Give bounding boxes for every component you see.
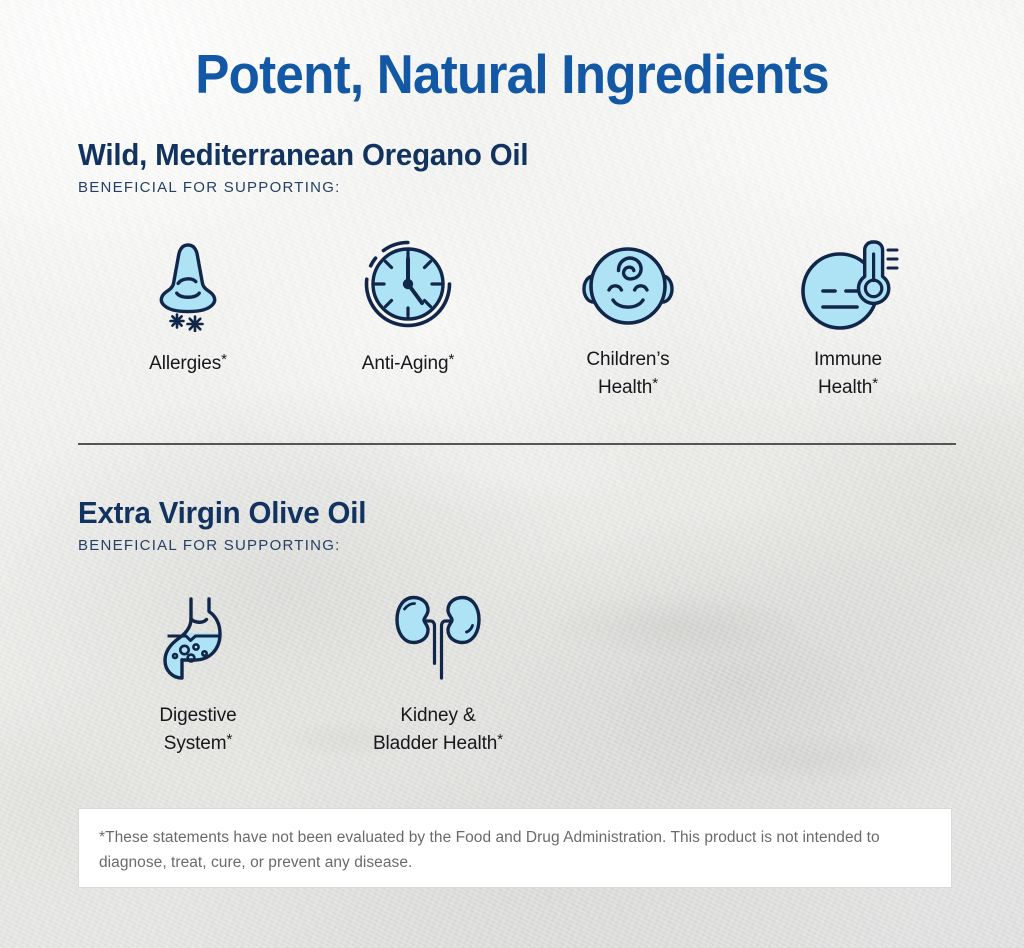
disclaimer-text: *These statements have not been evaluate… xyxy=(99,825,931,875)
benefit-label: Allergies* xyxy=(149,348,227,376)
benefit-icon-wrap xyxy=(390,592,486,688)
benefit-icon-wrap xyxy=(796,236,900,332)
benefit-label-line1: Digestive xyxy=(159,705,236,726)
benefit-item-immune-health: Immune Health* xyxy=(738,236,958,400)
benefit-item-childrens-health: Children’s Health* xyxy=(518,236,738,400)
benefit-label: Anti-Aging* xyxy=(362,348,454,376)
benefit-label: Kidney & Bladder Health* xyxy=(373,704,503,756)
disclaimer-box: *These statements have not been evaluate… xyxy=(78,808,952,888)
footnote-marker: * xyxy=(652,375,658,392)
section-divider xyxy=(78,443,956,445)
benefit-icon-wrap xyxy=(360,236,456,332)
benefit-item-digestive-system: Digestive System* xyxy=(78,592,318,756)
section-oregano-oil: Wild, Mediterranean Oregano Oil BENEFICI… xyxy=(78,138,958,197)
sick-face-thermometer-icon xyxy=(796,236,900,332)
benefit-label-line2: System xyxy=(164,733,227,754)
nose-allergy-icon xyxy=(145,236,231,332)
section-heading: Extra Virgin Olive Oil xyxy=(78,496,914,530)
benefit-label-line1: Anti-Aging xyxy=(362,353,449,374)
baby-face-icon xyxy=(576,236,680,332)
clock-icon xyxy=(360,236,456,332)
footnote-marker: * xyxy=(221,351,227,368)
stomach-icon xyxy=(150,592,246,688)
section-subheading: BENEFICIAL FOR SUPPORTING: xyxy=(78,179,958,197)
benefit-icon-wrap xyxy=(145,236,231,332)
benefit-icon-wrap xyxy=(150,592,246,688)
footnote-marker: * xyxy=(497,731,503,748)
footnote-marker: * xyxy=(448,351,454,368)
benefit-item-kidney-bladder-health: Kidney & Bladder Health* xyxy=(318,592,558,756)
section-olive-oil: Extra Virgin Olive Oil BENEFICIAL FOR SU… xyxy=(78,496,958,555)
benefit-label: Children’s Health* xyxy=(586,348,669,400)
ingredients-panel: Potent, Natural Ingredients Wild, Medite… xyxy=(0,0,1024,948)
benefit-list-olive-oil: Digestive System* xyxy=(78,592,958,756)
benefit-label-line2: Health xyxy=(818,377,872,398)
section-subheading: BENEFICIAL FOR SUPPORTING: xyxy=(78,537,958,555)
benefit-label-line1: Immune xyxy=(814,349,882,370)
benefit-label-line1: Allergies xyxy=(149,353,221,374)
benefit-icon-wrap xyxy=(576,236,680,332)
benefit-item-allergies: Allergies* xyxy=(78,236,298,376)
footnote-marker: * xyxy=(872,375,878,392)
benefit-label: Digestive System* xyxy=(159,704,236,756)
benefit-item-anti-aging: Anti-Aging* xyxy=(298,236,518,376)
section-heading: Wild, Mediterranean Oregano Oil xyxy=(78,138,914,172)
benefit-list-oregano-oil: Allergies* xyxy=(78,236,958,400)
footnote-marker: * xyxy=(227,731,233,748)
page-title: Potent, Natural Ingredients xyxy=(36,43,988,105)
kidneys-icon xyxy=(390,592,486,688)
benefit-label-line1: Kidney & xyxy=(400,705,475,726)
benefit-label-line1: Children’s xyxy=(586,349,669,370)
benefit-label-line2: Bladder Health xyxy=(373,733,497,754)
benefit-label-line2: Health xyxy=(598,377,652,398)
benefit-label: Immune Health* xyxy=(814,348,882,400)
